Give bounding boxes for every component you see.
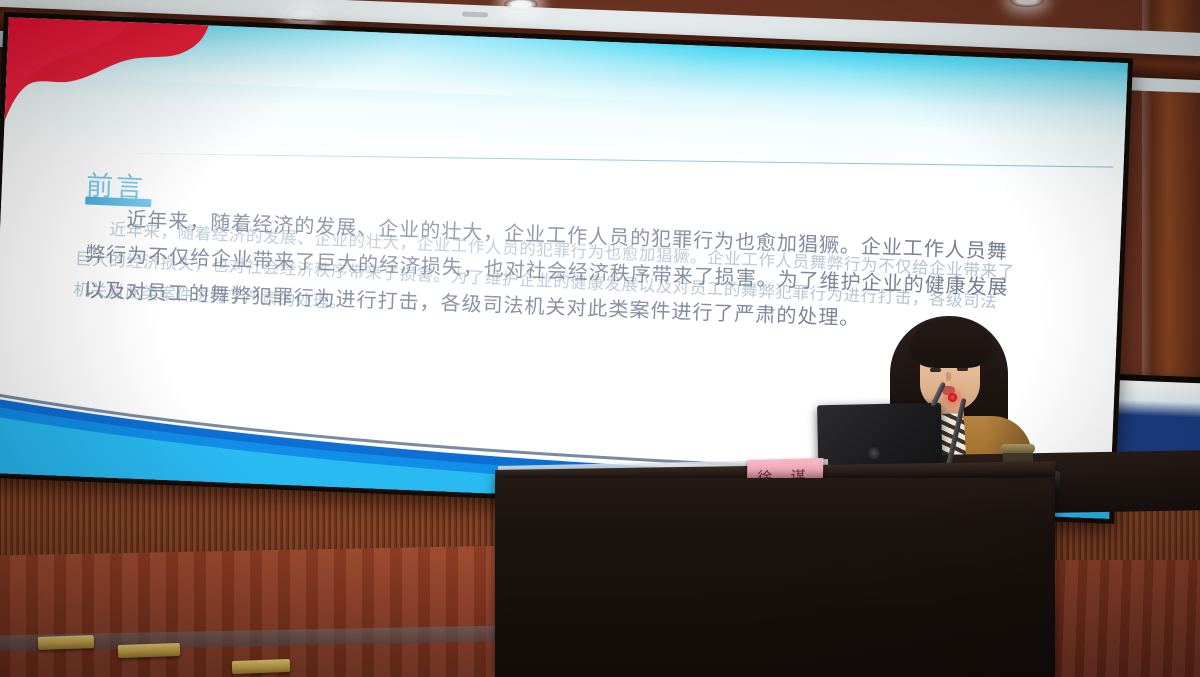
gold-badge [38, 635, 94, 650]
ceiling-downlight [1010, 0, 1044, 7]
nose [946, 372, 951, 381]
microphone-led-indicator [948, 393, 957, 402]
laptop-logo [868, 447, 880, 459]
podium-bench [495, 478, 1055, 677]
ceiling-vent [462, 12, 488, 18]
eye-left [930, 368, 941, 372]
ceiling-downlight [286, 8, 320, 21]
gold-badge [232, 659, 290, 674]
gold-badge [118, 643, 180, 658]
red-flag-ribbon-icon [4, 17, 249, 147]
hair-front [910, 318, 992, 368]
screenshot-root: 前言 近年来，随着经济的发展、企业的壮大，企业工作人员的犯罪行为也愈加猖獗。企业… [0, 0, 1200, 677]
travel-mug-lid [1001, 444, 1035, 453]
